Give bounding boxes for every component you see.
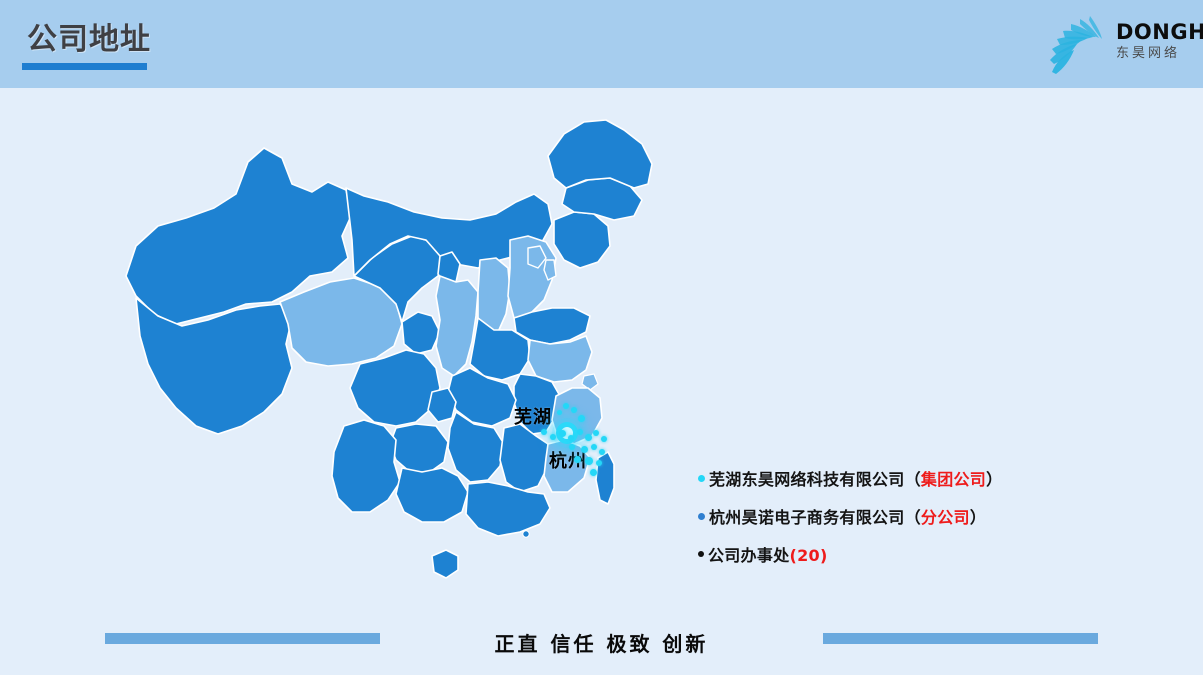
title-underline — [22, 63, 147, 70]
province-taiwan — [596, 452, 614, 504]
province-guangxi — [396, 468, 468, 522]
province-jiangsu — [528, 336, 592, 382]
legend-item-offices[interactable]: 公司办事处(20) — [698, 538, 1118, 570]
province-jiangxi — [500, 424, 548, 492]
china-map — [96, 96, 736, 616]
legend-item-group-company[interactable]: 芜湖东昊网络科技有限公司（集团公司） — [698, 462, 1118, 494]
header-band: 公司地址 DONGHAO — [0, 0, 1203, 88]
province-guangdong — [466, 482, 550, 536]
province-zhejiang — [552, 388, 602, 444]
province-fujian — [544, 440, 590, 492]
legend-accent-branch: 分公司 — [921, 508, 970, 527]
address-legend: 芜湖东昊网络科技有限公司（集团公司） 杭州昊诺电子商务有限公司（分公司） 公司办… — [698, 462, 1118, 576]
province-hongkong — [523, 531, 529, 537]
slide-root: 公司地址 DONGHAO — [0, 0, 1203, 675]
province-gansu-east — [402, 312, 440, 354]
province-guizhou — [390, 424, 448, 472]
province-heilongjiang — [548, 120, 652, 188]
legend-label-branch-company: 杭州昊诺电子商务有限公司（分公司） — [709, 504, 986, 528]
legend-accent-office-count: (20) — [790, 546, 828, 565]
legend-accent-group: 集团公司 — [921, 470, 986, 489]
province-tibet — [136, 298, 292, 434]
page-title: 公司地址 — [27, 20, 151, 60]
logo-feather-icon — [1044, 12, 1114, 76]
province-yunnan — [332, 420, 400, 512]
province-liaoning — [554, 212, 610, 268]
logo-chinese: 东昊网络 — [1116, 45, 1203, 62]
logo-english: DONGHAO — [1116, 20, 1203, 44]
province-chongqing — [428, 388, 456, 422]
logo-text: DONGHAO 东昊网络 — [1116, 20, 1203, 62]
footer-bar-right — [823, 633, 1098, 644]
legend-item-branch-company[interactable]: 杭州昊诺电子商务有限公司（分公司） — [698, 500, 1118, 532]
legend-bullet-cyan — [698, 475, 705, 482]
legend-label-offices: 公司办事处(20) — [708, 542, 828, 566]
legend-label-group-company: 芜湖东昊网络科技有限公司（集团公司） — [709, 466, 1002, 490]
logo: DONGHAO 东昊网络 — [1016, 8, 1191, 80]
legend-bullet-black — [698, 551, 704, 557]
province-hainan — [432, 550, 458, 578]
legend-bullet-blue — [698, 513, 705, 520]
